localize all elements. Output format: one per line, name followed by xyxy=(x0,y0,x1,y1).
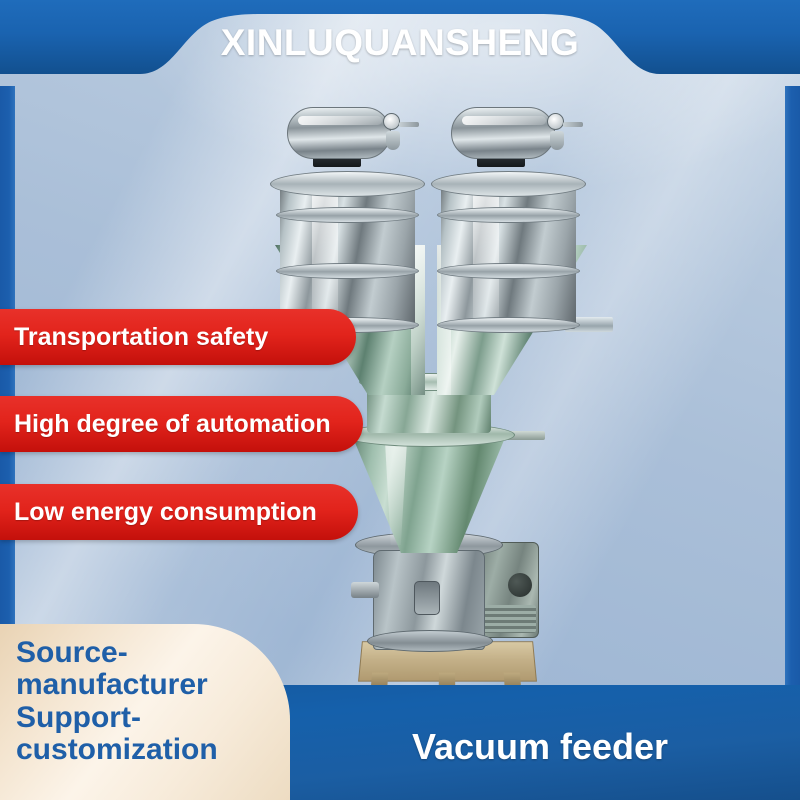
brand-title: XINLUQUANSHENG xyxy=(0,22,800,64)
pressure-gauge-right-icon xyxy=(547,113,564,130)
hopper-right-highlight xyxy=(473,181,499,327)
feature-badge-1[interactable]: Transportation safety xyxy=(0,309,356,365)
feature-badge-1-label: Transportation safety xyxy=(14,323,268,352)
air-tank-right-highlight xyxy=(462,116,546,125)
gearbox-shaft-face xyxy=(508,573,532,597)
regulator-stem-left xyxy=(399,122,419,127)
pressure-regulator-right xyxy=(547,113,573,151)
rotary-valve-bottom-flange xyxy=(367,630,493,652)
hopper-right-lid xyxy=(431,171,586,197)
pressure-regulator-left xyxy=(383,113,409,151)
promo-panel: Source- manufacturer Support- customizat… xyxy=(0,624,290,800)
hopper-left-body xyxy=(280,179,415,329)
right-edge-stripe xyxy=(785,86,800,686)
product-photo xyxy=(255,95,635,695)
regulator-stem-right xyxy=(563,122,583,127)
hopper-right-ring-middle xyxy=(437,263,580,279)
hopper-left-ring-middle xyxy=(276,263,419,279)
gearbox-cooling-fins xyxy=(482,605,536,633)
hopper-left-ring-top xyxy=(276,207,419,223)
regulator-bowl-left xyxy=(386,131,400,150)
gearbox-motor xyxy=(477,542,539,638)
feature-badge-2-label: High degree of automation xyxy=(14,410,331,439)
product-poster: XINLUQUANSHENG Transportation safety Hig… xyxy=(0,0,800,800)
hopper-right-ring-top xyxy=(437,207,580,223)
promo-text: Source- manufacturer Support- customizat… xyxy=(16,637,218,767)
air-tank-right xyxy=(451,107,555,159)
feature-badge-2[interactable]: High degree of automation xyxy=(0,396,363,452)
feature-badge-3-label: Low energy consumption xyxy=(14,498,317,527)
hopper-left-highlight xyxy=(312,181,338,327)
brand-banner: XINLUQUANSHENG xyxy=(0,0,800,90)
hopper-right-ring-bottom xyxy=(437,317,580,333)
pressure-gauge-left-icon xyxy=(383,113,400,130)
air-tank-left-highlight xyxy=(298,116,382,125)
hopper-left-lid xyxy=(270,171,425,197)
regulator-bowl-right xyxy=(550,131,564,150)
hopper-right-body xyxy=(441,179,576,329)
hopper-right xyxy=(431,167,586,337)
rotary-valve-shaft xyxy=(351,582,379,598)
rotary-valve-port xyxy=(414,581,440,615)
air-tank-left xyxy=(287,107,391,159)
product-name-title: Vacuum feeder xyxy=(280,726,800,768)
feature-badge-3[interactable]: Low energy consumption xyxy=(0,484,358,540)
discharge-cone xyxy=(351,433,507,553)
